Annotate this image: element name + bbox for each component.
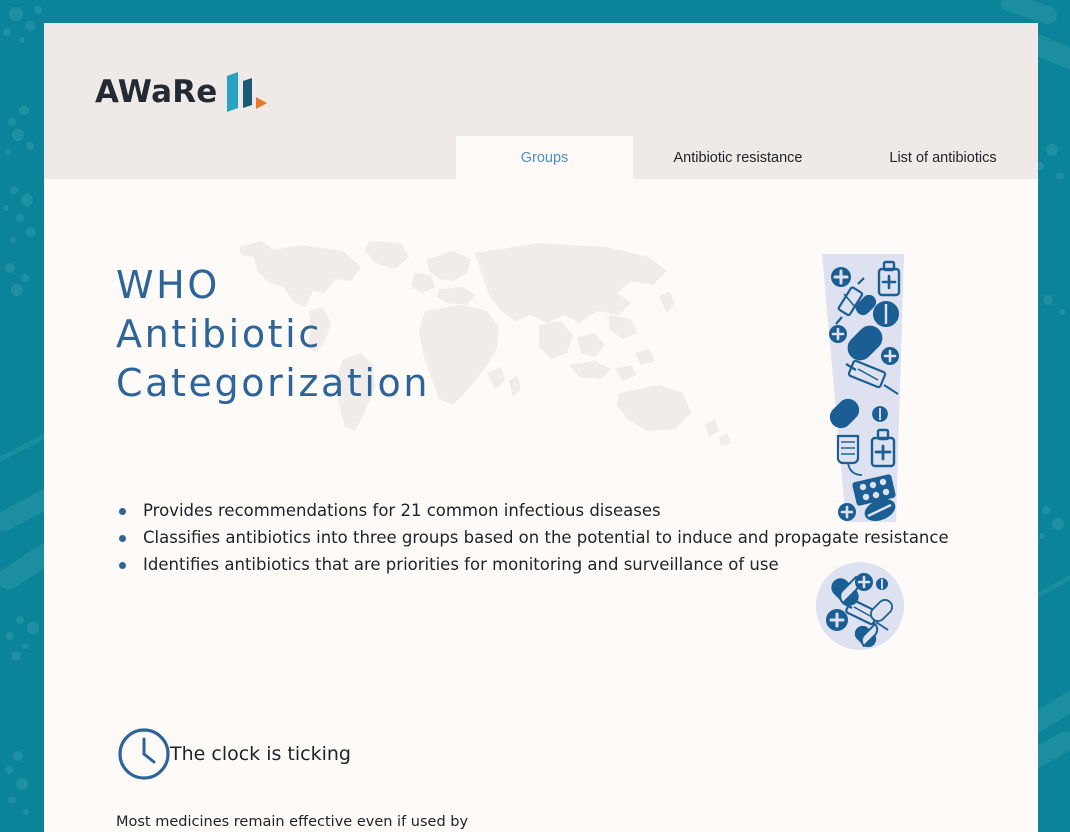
bullet-dot-icon: [119, 508, 126, 515]
medicine-banner-illustration: [814, 254, 912, 522]
clock-heading: The clock is ticking: [170, 743, 351, 765]
bullet-dot-icon: [119, 535, 126, 542]
clock-is-ticking-section: The clock is ticking: [116, 726, 351, 782]
list-item-label: Provides recommendations for 21 common i…: [143, 501, 661, 520]
medicine-circle-illustration: [814, 560, 906, 652]
main-content: WHO Antibiotic Categorization Provides r…: [44, 156, 1038, 832]
aware-bars-icon: [225, 70, 269, 114]
list-item-label: Classifies antibiotics into three groups…: [143, 528, 949, 547]
list-item: Classifies antibiotics into three groups…: [116, 528, 949, 548]
list-item-label: Identifies antibiotics that are prioriti…: [143, 555, 779, 574]
page-title: WHO Antibiotic Categorization: [116, 261, 430, 408]
bullet-dot-icon: [119, 562, 126, 569]
logo-wordmark: AWaRe: [95, 77, 218, 108]
clock-body-text: Most medicines remain effective even if …: [116, 809, 468, 832]
site-header: AWaRe Groups Antibiotic resistance List …: [44, 23, 1038, 156]
site-logo[interactable]: AWaRe: [95, 70, 269, 114]
page-card: AWaRe Groups Antibiotic resistance List …: [44, 23, 1038, 832]
clock-icon: [116, 726, 172, 782]
